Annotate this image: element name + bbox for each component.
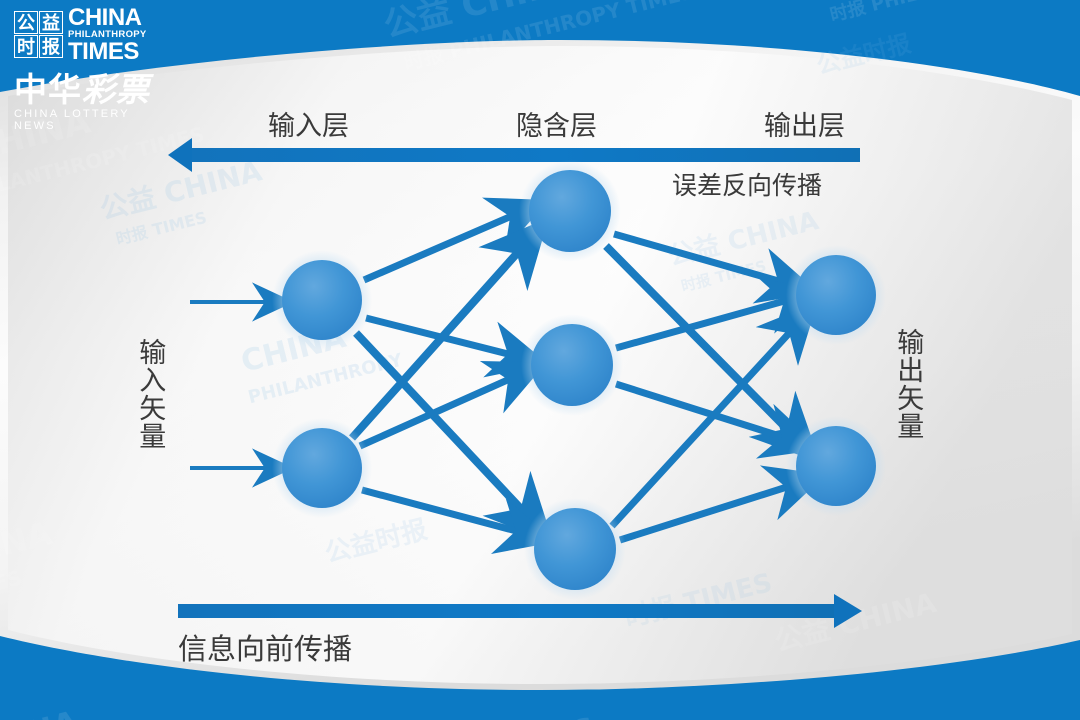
input-entry-arrows — [190, 302, 268, 468]
neuron-input-2 — [272, 418, 372, 518]
neural-network-diagram — [0, 0, 1080, 720]
neuron-hidden-2 — [521, 314, 623, 416]
neuron-hidden-1 — [519, 160, 621, 262]
neuron-hidden-3 — [524, 498, 626, 600]
slide-canvas: 公益 CHINA 时报 PHILANTHROPY TIMES 公益 CHINA … — [0, 0, 1080, 720]
backward-propagation-arrow — [168, 138, 860, 172]
neuron-input-1 — [272, 250, 372, 350]
hidden-to-output-connections — [606, 234, 792, 540]
neuron-nodes — [272, 160, 886, 600]
forward-propagation-arrow — [178, 594, 862, 628]
input-to-hidden-connections — [352, 215, 524, 532]
neuron-output-2 — [786, 416, 886, 516]
neuron-output-1 — [786, 245, 886, 345]
